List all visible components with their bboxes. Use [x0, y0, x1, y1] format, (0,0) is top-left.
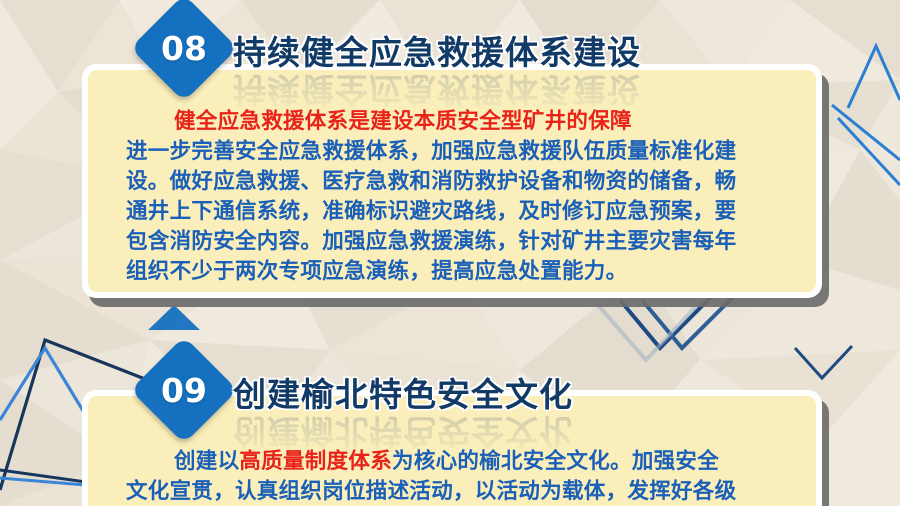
body-line: 组织不少于两次专项应急演练，提高应急处置能力。: [126, 257, 814, 287]
poster-canvas: 持续健全应急救援体系建设 08 持续健全应急救援体系建设 健全应急救援体系是建设…: [0, 0, 900, 506]
section-lead-08-line: 健全应急救援体系是建设本质安全型矿井的保障: [126, 107, 814, 137]
body-line: 设。做好应急救援、医疗急救和消防救护设备和物资的储备，畅: [126, 167, 814, 197]
body-part: 为核心的榆北安全文化。加强安全: [392, 449, 719, 474]
body-line: 进一步完善安全应急救援体系，加强应急救援队伍质量标准化建: [126, 137, 814, 167]
body-line: 文化宣贯，认真组织岗位描述活动，以活动为载体，发挥好各级: [126, 477, 814, 506]
section-title-08: 持续健全应急救援体系建设: [233, 26, 641, 74]
body-part: 创建以: [174, 449, 239, 474]
section-badge-08-number: 08: [146, 10, 222, 86]
body-line: 包含消防安全内容。加强应急救援演练，针对矿井主要灾害每年: [126, 227, 814, 257]
section-body-09: 创建以高质量制度体系为核心的榆北安全文化。加强安全 文化宣贯，认真组织岗位描述活…: [126, 447, 814, 506]
section-lead-08: 健全应急救援体系是建设本质安全型矿井的保障: [174, 109, 632, 134]
body-part-highlight: 高质量制度体系: [239, 449, 392, 474]
section-title-09: 创建榆北特色安全文化: [233, 368, 573, 416]
section-badge-09-number: 09: [146, 352, 222, 428]
body-line-mixed: 创建以高质量制度体系为核心的榆北安全文化。加强安全: [126, 447, 814, 477]
section-body-08: 健全应急救援体系是建设本质安全型矿井的保障 进一步完善安全应急救援体系，加强应急…: [126, 107, 814, 287]
section-badge-09: 09: [130, 336, 237, 443]
body-line: 通井上下通信系统，准确标识避灾路线，及时修订应急预案，要: [126, 197, 814, 227]
